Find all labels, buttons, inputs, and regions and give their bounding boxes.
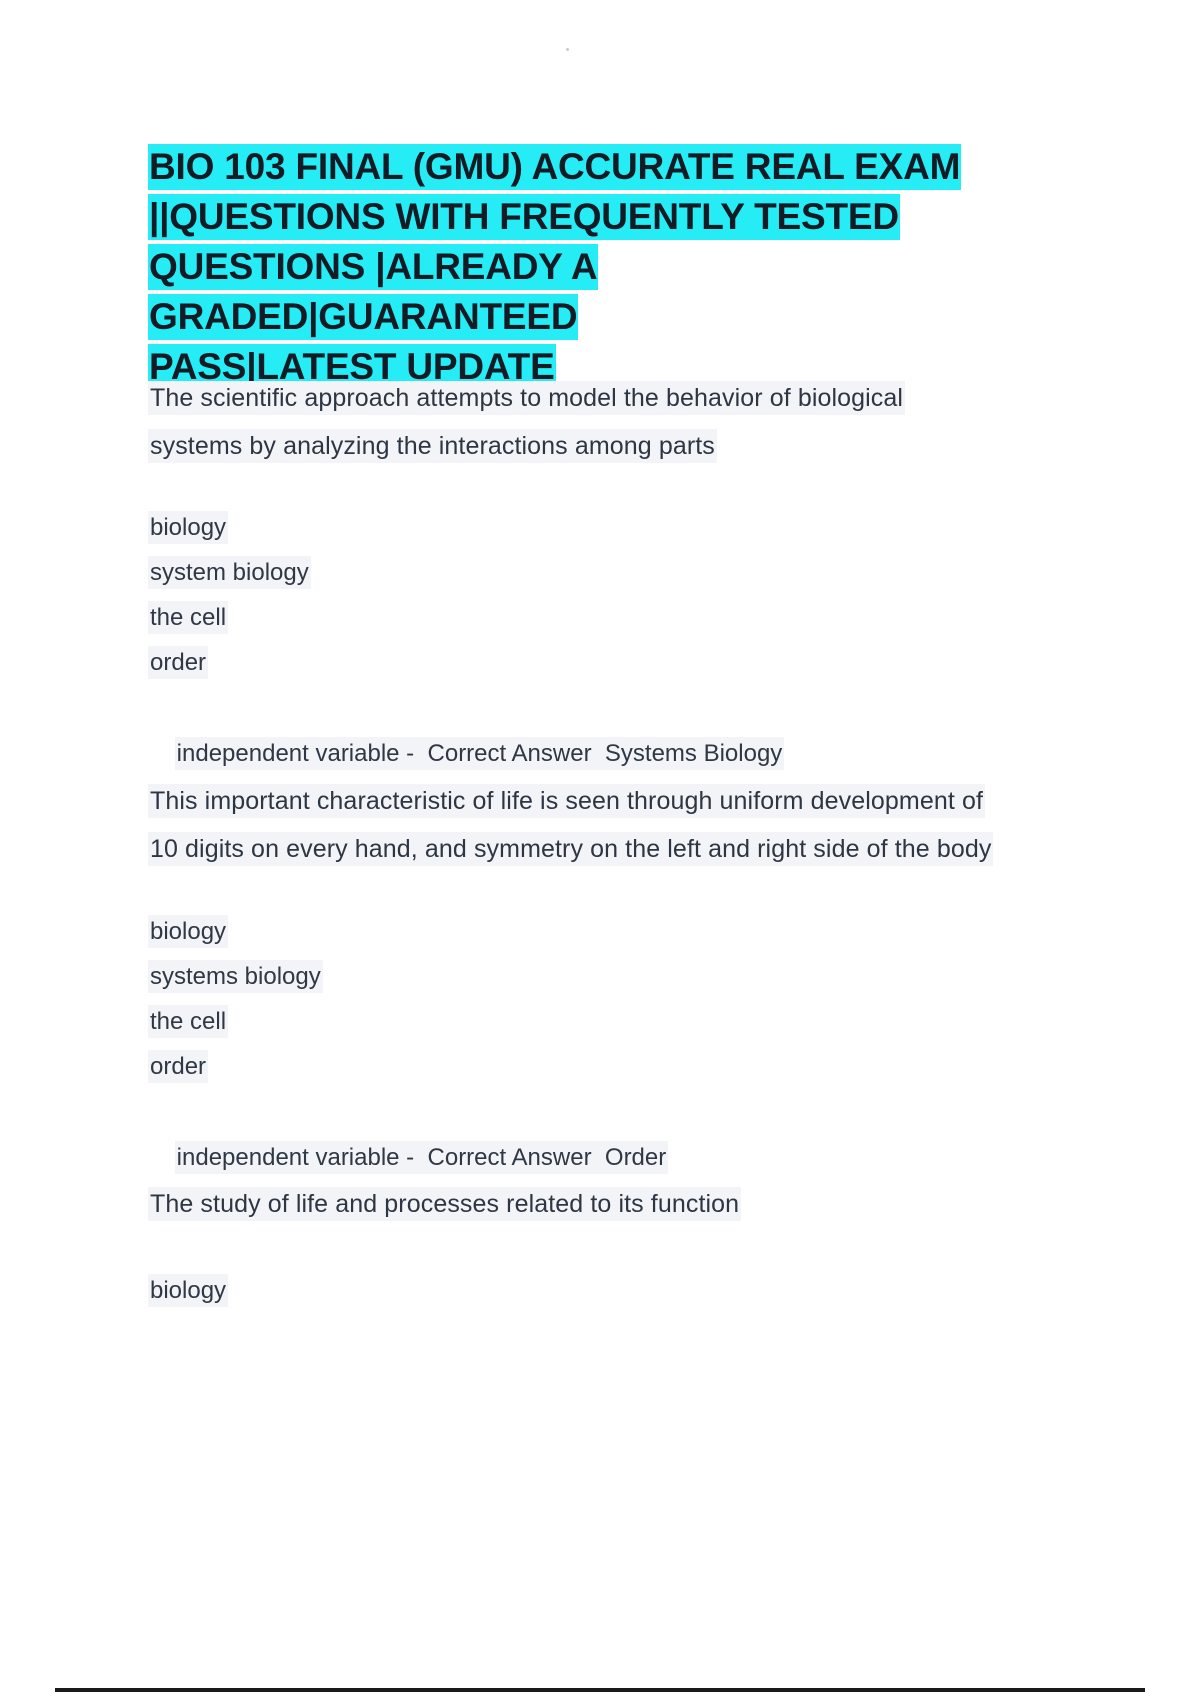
question-2-option-3: the cell bbox=[148, 1005, 228, 1038]
question-1-option-4: order bbox=[148, 646, 208, 679]
question-1-prompt-line-1: The scientific approach attempts to mode… bbox=[148, 381, 905, 415]
question-1-option-3: the cell bbox=[148, 601, 228, 634]
title-line-2: ||QUESTIONS WITH FREQUENTLY TESTED bbox=[148, 194, 900, 240]
list-item: biology bbox=[148, 909, 1048, 954]
title-line-1: BIO 103 FINAL (GMU) ACCURATE REAL EXAM bbox=[148, 144, 961, 190]
list-item: order bbox=[148, 640, 1048, 685]
question-3-prompt-line-1: The study of life and processes related … bbox=[148, 1187, 741, 1221]
list-item: biology bbox=[148, 505, 1048, 550]
question-1-option-2: system biology bbox=[148, 556, 311, 589]
question-2-option-2: systems biology bbox=[148, 960, 323, 993]
list-item: the cell bbox=[148, 595, 1048, 640]
question-1-prompt-line-2: systems by analyzing the interactions am… bbox=[148, 429, 717, 463]
question-1-option-1: biology bbox=[148, 511, 228, 544]
list-item: systems biology bbox=[148, 954, 1048, 999]
question-3-prompt-text: The study of life and processes related … bbox=[148, 1180, 1048, 1228]
question-3-prompt: The study of life and processes related … bbox=[148, 1180, 1048, 1228]
question-1-prompt-text: The scientific approach attempts to mode… bbox=[148, 374, 1048, 470]
question-2-prompt-text: This important characteristic of life is… bbox=[148, 777, 1048, 873]
question-1-answer-text: independent variable - Correct Answer Sy… bbox=[175, 737, 785, 770]
question-2-option-4: order bbox=[148, 1050, 208, 1083]
question-1-options: biology system biology the cell order bbox=[148, 505, 1048, 685]
question-1-prompt: The scientific approach attempts to mode… bbox=[148, 374, 1048, 470]
list-item: biology bbox=[148, 1268, 1048, 1313]
question-2-prompt-line-1: This important characteristic of life is… bbox=[148, 784, 985, 818]
footer-divider bbox=[55, 1688, 1145, 1692]
list-item: order bbox=[148, 1044, 1048, 1089]
page-title: BIO 103 FINAL (GMU) ACCURATE REAL EXAM |… bbox=[148, 142, 1028, 392]
question-2-prompt-line-2: 10 digits on every hand, and symmetry on… bbox=[148, 832, 993, 866]
document-page: BIO 103 FINAL (GMU) ACCURATE REAL EXAM |… bbox=[0, 0, 1200, 1700]
title-line-3: QUESTIONS |ALREADY A GRADED|GUARANTEED bbox=[148, 244, 598, 340]
question-3-options: biology bbox=[148, 1268, 1048, 1313]
question-2-answer-text: independent variable - Correct Answer Or… bbox=[175, 1141, 669, 1174]
list-item: the cell bbox=[148, 999, 1048, 1044]
question-2-option-1: biology bbox=[148, 915, 228, 948]
question-2-options: biology systems biology the cell order bbox=[148, 909, 1048, 1089]
list-item: system biology bbox=[148, 550, 1048, 595]
question-3-option-1: biology bbox=[148, 1274, 228, 1307]
scan-speck bbox=[566, 48, 569, 51]
question-2-prompt: This important characteristic of life is… bbox=[148, 777, 1048, 873]
